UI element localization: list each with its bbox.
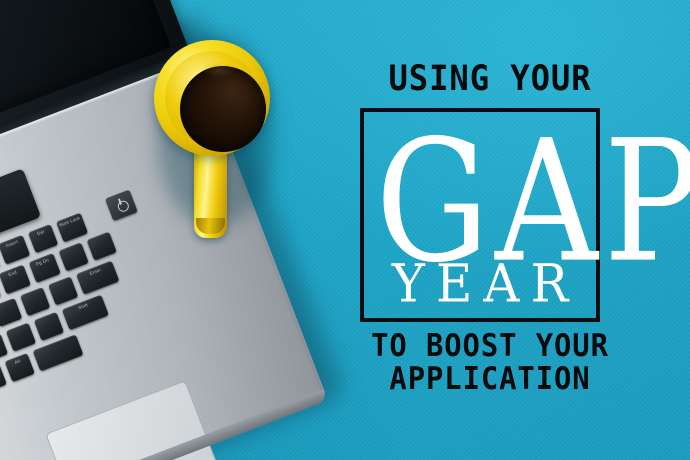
key[interactable]: End bbox=[0, 265, 31, 295]
key-glyph: Insert bbox=[0, 237, 25, 251]
key[interactable] bbox=[0, 298, 22, 327]
title-block: USING YOUR GAP YEAR TO BOOST YOUR APPLIC… bbox=[340, 52, 640, 402]
key[interactable] bbox=[34, 312, 64, 341]
key[interactable] bbox=[33, 334, 84, 371]
power-icon bbox=[116, 199, 130, 213]
key[interactable] bbox=[6, 323, 36, 352]
key[interactable] bbox=[48, 276, 78, 305]
poster-canvas: F10 F11 F12 Prt Sc Insert Del Num Lock B… bbox=[0, 0, 690, 460]
tagline: TO BOOST YOUR APPLICATION bbox=[351, 330, 630, 396]
key[interactable]: Pg Dn bbox=[29, 253, 61, 283]
key[interactable] bbox=[87, 232, 117, 261]
headline-year: YEAR bbox=[364, 255, 596, 312]
key-glyph: End bbox=[0, 266, 26, 280]
key[interactable] bbox=[0, 333, 8, 362]
key[interactable] bbox=[59, 242, 89, 271]
key-glyph: Pg Dn bbox=[29, 255, 55, 269]
coffee-surface bbox=[180, 66, 266, 152]
power-button[interactable] bbox=[105, 190, 138, 222]
tagline-line-2: APPLICATION bbox=[351, 363, 630, 396]
tagline-line-1: TO BOOST YOUR bbox=[351, 330, 630, 363]
key[interactable]: Insert bbox=[0, 235, 30, 265]
key[interactable]: Enter bbox=[76, 261, 119, 295]
key[interactable] bbox=[20, 287, 50, 316]
key[interactable]: Del bbox=[28, 224, 58, 253]
key-glyph: Alt bbox=[5, 355, 29, 368]
key-glyph: Del bbox=[29, 226, 53, 239]
mug-body bbox=[154, 40, 270, 156]
gap-year-frame: GAP YEAR bbox=[360, 108, 600, 322]
kicker-text: USING YOUR bbox=[352, 60, 628, 98]
key-glyph: Num Lock bbox=[57, 214, 83, 228]
key[interactable]: Alt bbox=[5, 353, 35, 382]
key[interactable]: Num Lock bbox=[56, 213, 88, 243]
key[interactable] bbox=[0, 364, 7, 393]
coffee-mug bbox=[152, 22, 274, 222]
coffee-highlight bbox=[202, 62, 236, 78]
